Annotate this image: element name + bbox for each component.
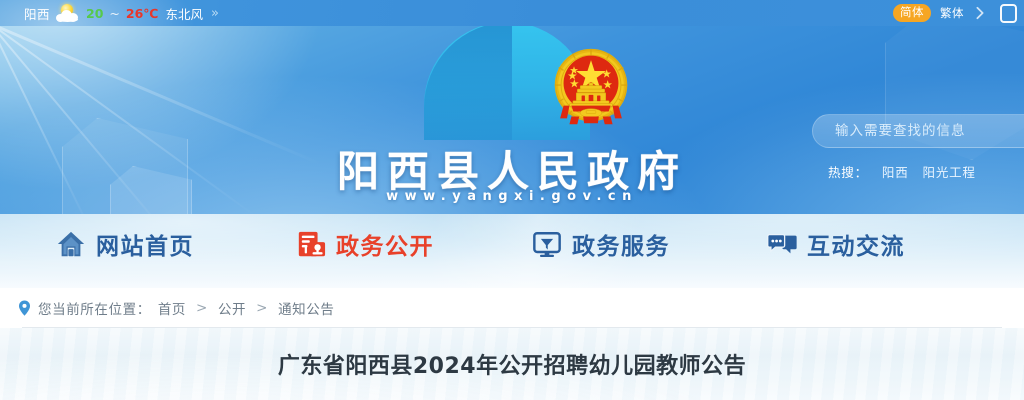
document-stamp-icon <box>296 229 326 259</box>
nav-item-home[interactable]: 网站首页 <box>56 227 296 261</box>
page-title: 广东省阳西县2024年公开招聘幼儿园教师公告 <box>0 348 1024 380</box>
hot-search-label: 热搜： <box>828 162 868 181</box>
nav-item-label: 网站首页 <box>96 227 194 261</box>
site-url: www.yangxi.gov.cn <box>0 189 1024 204</box>
nav-list: 网站首页 政务公开 <box>0 214 1024 274</box>
breadcrumb-separator: > <box>196 300 208 316</box>
top-utility-bar: 阳西 20 ~ 26℃ 东北风 » 简体 繁体 <box>0 0 1024 26</box>
app-icon[interactable] <box>1000 4 1017 23</box>
page-root: 阳西 20 ~ 26℃ 东北风 » 简体 繁体 <box>0 0 1024 400</box>
weather-temp-high: 26℃ <box>126 6 159 21</box>
weather-wind: 东北风 <box>165 4 203 23</box>
breadcrumb-bar: 您当前所在位置： 首页 > 公开 > 通知公告 <box>0 288 1024 328</box>
chat-bubble-icon <box>767 229 797 259</box>
nav-item-label: 政务服务 <box>572 227 670 261</box>
breadcrumb-item-home[interactable]: 首页 <box>158 298 186 318</box>
home-icon <box>56 229 86 259</box>
hot-search-item-1[interactable]: 阳西 <box>882 162 909 181</box>
national-emblem <box>542 40 640 138</box>
weather-more-link[interactable]: » <box>211 6 219 21</box>
site-hero-banner: 阳西县人民政府 www.yangxi.gov.cn 热搜： 阳西 阳光工程 <box>0 26 1024 214</box>
weather-widget[interactable]: 阳西 20 ~ 26℃ 东北风 » <box>24 0 219 26</box>
nav-item-label: 互动交流 <box>807 227 905 261</box>
location-pin-icon <box>18 300 31 316</box>
hot-search-item-2[interactable]: 阳光工程 <box>923 162 976 181</box>
weather-city: 阳西 <box>24 4 50 23</box>
breadcrumb-separator: > <box>256 300 268 316</box>
weather-temp-separator: ~ <box>109 6 119 21</box>
monitor-cursor-icon <box>532 229 562 259</box>
breadcrumb-label: 您当前所在位置： <box>38 298 151 318</box>
topbar-right-group: 简体 繁体 <box>893 0 1024 26</box>
hot-search-row: 热搜： 阳西 阳光工程 <box>828 162 976 181</box>
breadcrumb-item-disclosure[interactable]: 公开 <box>218 298 246 318</box>
lang-traditional-button[interactable]: 繁体 <box>940 5 964 21</box>
main-navigation-bar: 网站首页 政务公开 <box>0 214 1024 288</box>
weather-temp-low: 20 <box>86 6 103 21</box>
breadcrumb-item-notice[interactable]: 通知公告 <box>278 298 334 318</box>
nav-item-government-disclosure[interactable]: 政务公开 <box>296 227 532 261</box>
search-box[interactable] <box>812 114 1024 148</box>
search-input[interactable] <box>813 123 1024 139</box>
chevron-right-icon[interactable] <box>973 6 987 20</box>
breadcrumb: 您当前所在位置： 首页 > 公开 > 通知公告 <box>18 288 334 328</box>
lang-simplified-button[interactable]: 简体 <box>893 4 931 23</box>
article-header: 广东省阳西县2024年公开招聘幼儿园教师公告 <box>0 328 1024 400</box>
nav-item-label: 政务公开 <box>336 227 434 261</box>
nav-item-interaction[interactable]: 互动交流 <box>767 227 905 261</box>
sun-cloud-icon <box>55 4 81 22</box>
nav-item-government-service[interactable]: 政务服务 <box>532 227 767 261</box>
